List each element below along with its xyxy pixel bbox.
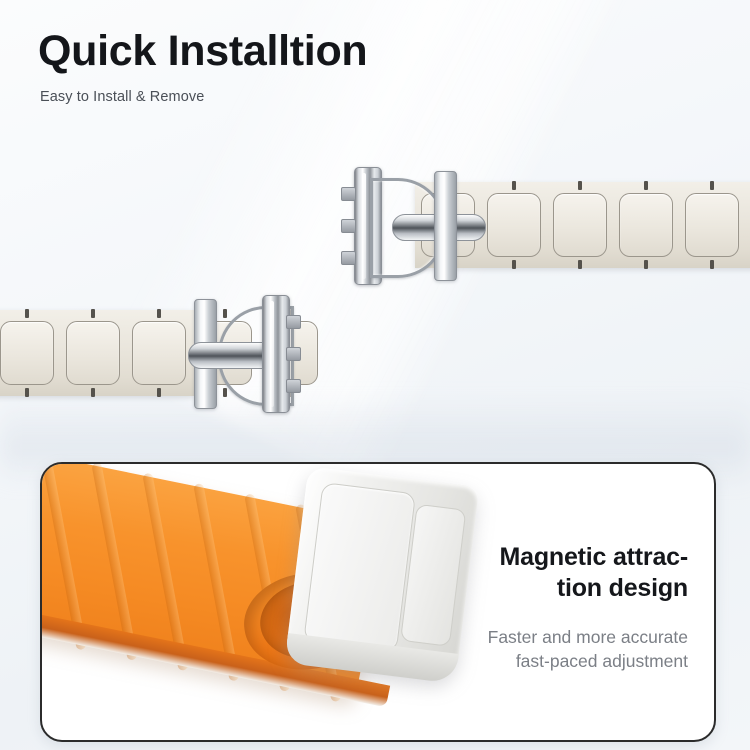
page-title: Quick Installtion: [38, 30, 367, 73]
feature-subtitle-line-2: fast-paced adjustment: [388, 649, 688, 673]
band-links-bottom: [0, 310, 194, 396]
spring-bar-tab: [286, 347, 301, 361]
connector-top: [350, 165, 442, 285]
band-link: [66, 321, 120, 385]
connector-bottom: [196, 293, 288, 413]
band-link: [619, 193, 673, 257]
feature-subtitle-line-1: Faster and more accurate: [388, 625, 688, 649]
band-link: [553, 193, 607, 257]
feature-title-line-1: Magnetic attrac-: [388, 542, 688, 573]
band-link: [487, 193, 541, 257]
orange-strap-illustration: [40, 462, 438, 688]
feature-panel: Magnetic attrac- tion design Faster and …: [40, 462, 716, 742]
spring-bar-tab: [286, 379, 301, 393]
spring-bar-tab: [341, 251, 356, 265]
connector-post: [434, 171, 457, 281]
spring-bar-tab: [286, 315, 301, 329]
page-subtitle: Easy to Install & Remove: [40, 89, 367, 105]
band-link: [132, 321, 186, 385]
feature-title: Magnetic attrac- tion design: [388, 542, 688, 603]
band-link: [0, 321, 54, 385]
band-link: [685, 193, 739, 257]
feature-text-block: Magnetic attrac- tion design Faster and …: [388, 542, 688, 673]
spring-bar-tab: [341, 187, 356, 201]
product-marketing-image: Quick Installtion Easy to Install & Remo…: [0, 0, 750, 750]
spring-bar-tab: [341, 219, 356, 233]
watch-band-bottom: [0, 310, 194, 396]
header: Quick Installtion Easy to Install & Remo…: [38, 30, 367, 105]
feature-title-line-2: tion design: [388, 573, 688, 604]
feature-subtitle: Faster and more accurate fast-paced adju…: [388, 625, 688, 673]
